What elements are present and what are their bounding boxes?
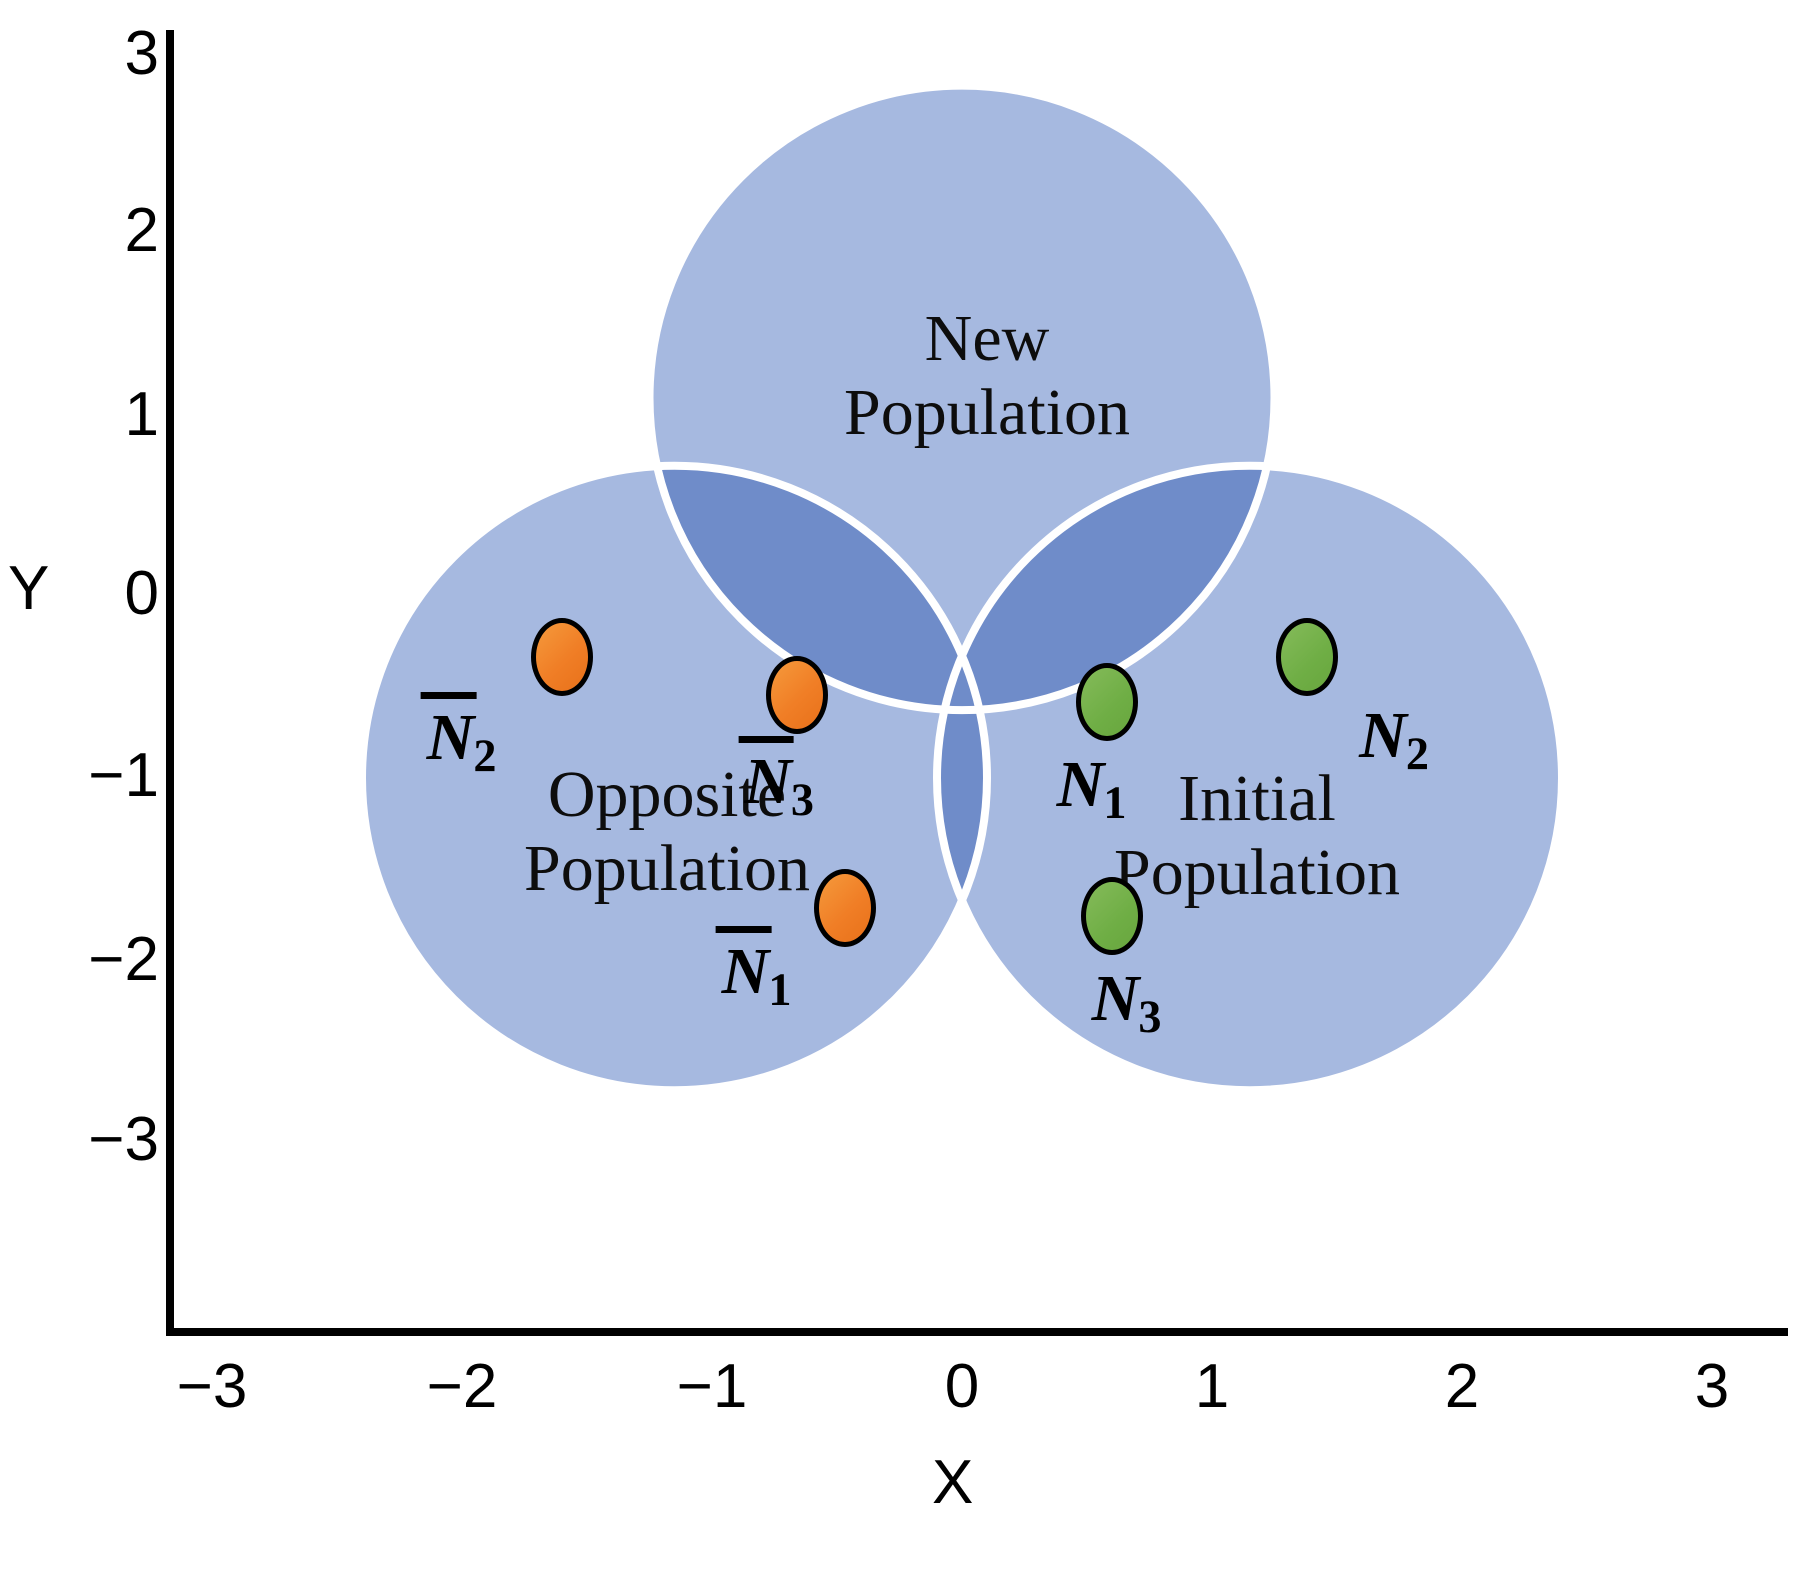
y-axis-title: Y: [8, 558, 49, 620]
x-tick-2: 2: [1445, 1356, 1479, 1418]
x-tick-0: 0: [945, 1356, 979, 1418]
y-tick-3: 3: [125, 23, 159, 85]
x-tick-neg-3: −3: [177, 1356, 248, 1418]
y-tick-2: 2: [125, 200, 159, 262]
marker-n1-bar[interactable]: [814, 869, 876, 947]
y-axis-line: [166, 30, 174, 1336]
label-initial-population: Initial Population: [1114, 762, 1400, 910]
label-n1-subscript: 1: [1103, 777, 1126, 828]
label-n3-subscript: 3: [1138, 991, 1161, 1042]
x-axis-title: X: [932, 1452, 973, 1514]
marker-n1[interactable]: [1076, 663, 1138, 741]
y-tick-neg-3: −3: [88, 1109, 159, 1171]
label-n3-bar: N3: [744, 749, 815, 815]
label-n3-bar-subscript: 3: [791, 774, 814, 825]
label-n3-bar-base: N: [744, 749, 792, 815]
venn-circles: [0, 0, 1804, 1581]
label-n3: N3: [1092, 966, 1163, 1032]
label-n1-bar-subscript: 1: [768, 964, 791, 1015]
label-n2-base: N: [1359, 703, 1407, 769]
y-tick-neg-2: −2: [88, 929, 159, 991]
label-n1: N1: [1057, 752, 1128, 818]
y-tick-1: 1: [125, 384, 159, 446]
x-axis-line: [166, 1328, 1788, 1336]
label-n2-subscript: 2: [1406, 728, 1429, 779]
label-n2-bar-subscript: 2: [473, 730, 496, 781]
label-n1-bar: N1: [722, 939, 793, 1005]
marker-n3[interactable]: [1081, 877, 1143, 955]
x-tick-neg-2: −2: [427, 1356, 498, 1418]
y-tick-neg-1: −1: [88, 745, 159, 807]
label-n3-base: N: [1092, 966, 1140, 1032]
marker-n2[interactable]: [1276, 618, 1338, 696]
x-tick-1: 1: [1195, 1356, 1229, 1418]
label-n2-bar-base: N: [427, 705, 475, 771]
x-tick-3: 3: [1695, 1356, 1729, 1418]
label-n2-bar: N2: [427, 705, 498, 771]
figure-root: 3 2 1 0 −1 −2 −3 −3 −2 −1 0 1 2 3 Y X Ne…: [0, 0, 1804, 1581]
x-tick-neg-1: −1: [677, 1356, 748, 1418]
label-n1-base: N: [1057, 752, 1105, 818]
y-tick-0: 0: [125, 563, 159, 625]
label-n1-bar-base: N: [722, 939, 770, 1005]
label-new-population: New Population: [844, 302, 1130, 450]
marker-n2-bar[interactable]: [531, 618, 593, 696]
marker-n3-bar[interactable]: [766, 656, 828, 734]
label-n2: N2: [1359, 703, 1430, 769]
